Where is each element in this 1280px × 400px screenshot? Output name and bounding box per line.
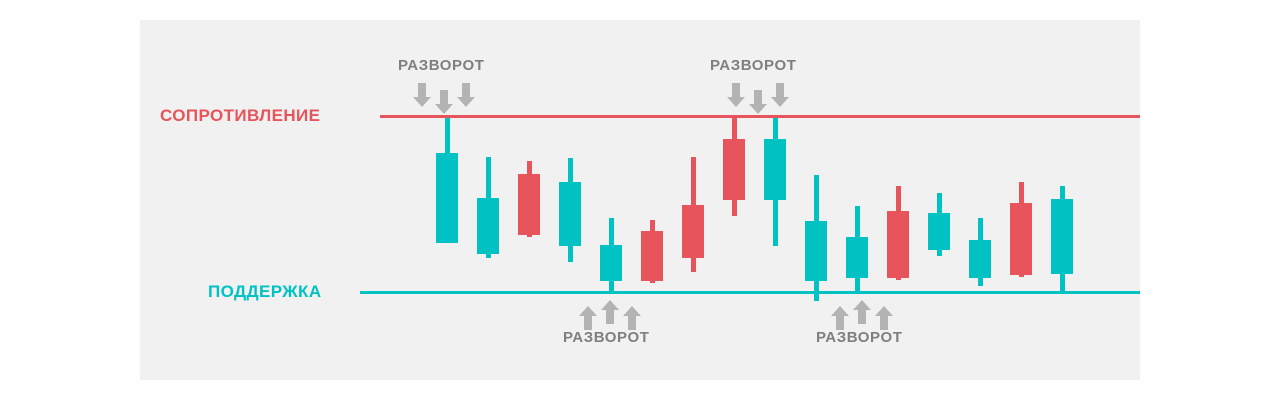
candlestick-10 — [805, 175, 827, 301]
candlestick-body — [928, 213, 950, 250]
candlestick-body — [805, 221, 827, 281]
candlestick-9 — [764, 116, 786, 246]
candlestick-body — [1010, 203, 1032, 275]
support-line — [360, 291, 1140, 294]
candlestick-body — [477, 198, 499, 254]
candlestick-8 — [723, 116, 745, 216]
candlestick-body — [518, 174, 540, 235]
candlestick-6 — [641, 220, 663, 283]
reversal-label-bottom-right: РАЗВОРОТ — [816, 330, 902, 345]
candlestick-14 — [969, 218, 991, 286]
candlestick-body — [641, 231, 663, 281]
candlestick-12 — [887, 186, 909, 280]
candlestick-body — [1051, 199, 1073, 274]
candlestick-body — [846, 237, 868, 278]
candlestick-body — [969, 240, 991, 278]
resistance-line — [380, 115, 1140, 118]
candlestick-3 — [518, 161, 540, 237]
candlestick-plot — [140, 20, 1140, 380]
candlestick-body — [600, 245, 622, 281]
candlestick-body — [559, 182, 581, 246]
candlestick-body — [764, 139, 786, 200]
support-label: ПОДДЕРЖКА — [208, 283, 322, 300]
candlestick-13 — [928, 193, 950, 256]
resistance-label: СОПРОТИВЛЕНИЕ — [160, 107, 320, 124]
candlestick-body — [887, 211, 909, 278]
candlestick-body — [436, 153, 458, 243]
candlestick-7 — [682, 157, 704, 272]
reversal-label-bottom-left: РАЗВОРОТ — [563, 330, 649, 345]
candlestick-4 — [559, 158, 581, 262]
reversal-label-top-left: РАЗВОРОТ — [398, 58, 484, 73]
chart-panel — [140, 20, 1140, 380]
illustration-root: СОПРОТИВЛЕНИЕПОДДЕРЖКАРАЗВОРОТРАЗВОРОТРА… — [0, 0, 1280, 400]
candlestick-1 — [436, 116, 458, 239]
candlestick-15 — [1010, 182, 1032, 277]
candlestick-5 — [600, 218, 622, 291]
candlestick-11 — [846, 206, 868, 291]
candlestick-16 — [1051, 186, 1073, 291]
candlestick-body — [682, 205, 704, 258]
reversal-label-top-right: РАЗВОРОТ — [710, 58, 796, 73]
candlestick-body — [723, 139, 745, 200]
candlestick-2 — [477, 157, 499, 258]
